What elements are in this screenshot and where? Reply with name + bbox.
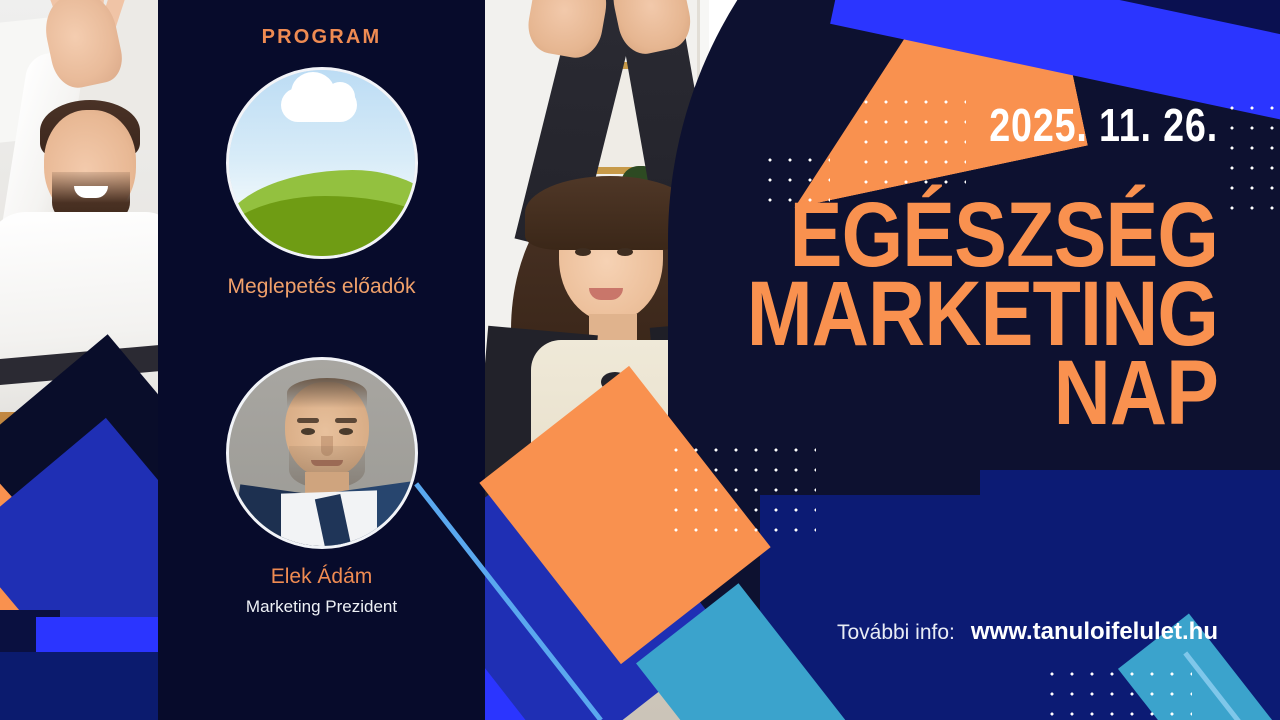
portrait-eyebrow	[297, 418, 319, 423]
left-decor-deep-blue-bar	[0, 652, 158, 720]
main-text-area: 2025. 11. 26. EGÉSZSÉG MARKETING NAP Tov…	[700, 0, 1280, 720]
portrait-eye	[301, 428, 315, 435]
portrait-eyebrow	[335, 418, 357, 423]
center-photo-eye	[575, 248, 591, 256]
more-info-row: További info: www.tanuloifelulet.hu	[837, 618, 1218, 646]
portrait-eye	[339, 428, 353, 435]
speaker-name-2: Elek Ádám	[271, 565, 373, 589]
title-line-3: NAP	[747, 354, 1218, 433]
poster-canvas: PROGRAM Meglepetés előadók	[0, 0, 1280, 720]
speaker-name-1: Meglepetés előadók	[228, 275, 416, 299]
program-heading: PROGRAM	[262, 26, 382, 49]
landscape-placeholder-icon	[226, 67, 418, 259]
speaker-entry-2: Elek Ádám Marketing Prezident	[226, 357, 418, 617]
event-title: EGÉSZSÉG MARKETING NAP	[670, 196, 1218, 433]
speaker-entry-1: Meglepetés előadók	[226, 67, 418, 299]
event-date: 2025. 11. 26.	[989, 98, 1218, 152]
left-photo-man-raising-hand	[0, 0, 158, 720]
left-decor-bright-blue-bar	[36, 617, 158, 653]
website-url[interactable]: www.tanuloifelulet.hu	[971, 618, 1218, 646]
cloud-icon	[281, 88, 357, 122]
portrait-hairline	[287, 378, 367, 408]
speaker-role-2: Marketing Prezident	[246, 597, 397, 617]
more-info-label: További info:	[837, 621, 955, 645]
program-sidebar: PROGRAM Meglepetés előadók	[158, 0, 485, 720]
speaker-portrait-avatar	[226, 357, 418, 549]
center-photo-eye	[617, 248, 633, 256]
portrait-mouth	[311, 460, 343, 466]
